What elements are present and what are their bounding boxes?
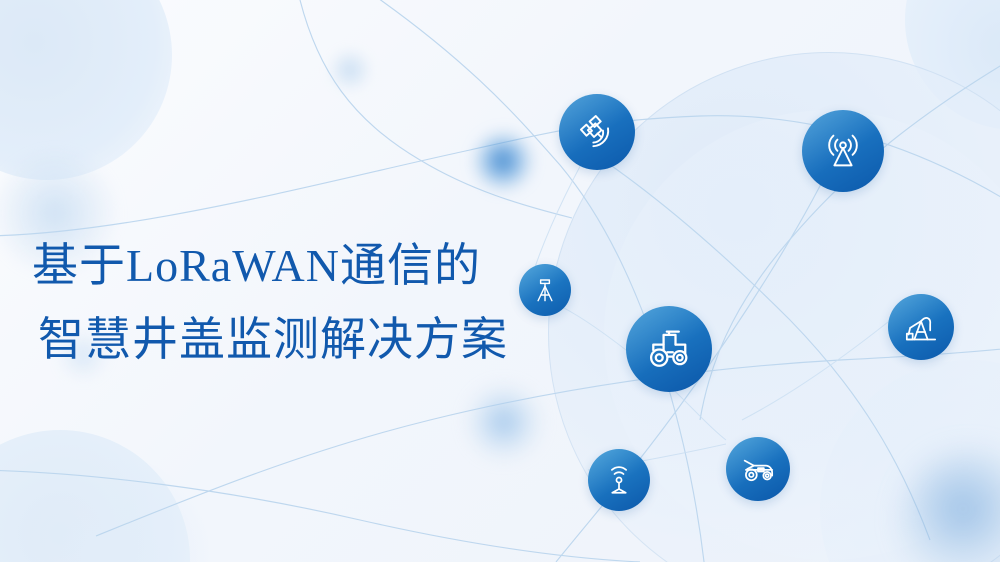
- node-radio-tower[interactable]: [802, 110, 884, 192]
- node-wireless-sensor[interactable]: [588, 449, 650, 511]
- background-blob-bottom-left: [0, 430, 190, 562]
- node-harvester[interactable]: [726, 437, 790, 501]
- glow-dot-top: [328, 48, 372, 92]
- node-satellite[interactable]: [559, 94, 635, 170]
- glow-dot-center: [472, 130, 534, 192]
- glow-dot-lower: [466, 384, 542, 460]
- harvester-icon: [738, 449, 778, 489]
- node-tractor[interactable]: [626, 306, 712, 392]
- background-blob-top-right: [905, 0, 1000, 130]
- satellite-icon: [575, 110, 619, 154]
- background-blob-top-left: [0, 0, 172, 180]
- background-blob-bottom-right: [820, 360, 1000, 562]
- wireless-sensor-icon: [601, 462, 637, 498]
- oil-pumpjack-icon: [901, 307, 941, 347]
- title-block: 基于LoRaWAN通信的 智慧井盖监测解决方案: [32, 229, 592, 377]
- title-line-2: 智慧井盖监测解决方案: [32, 303, 592, 377]
- slide-canvas: 基于LoRaWAN通信的 智慧井盖监测解决方案: [0, 0, 1000, 562]
- tractor-icon: [643, 323, 695, 375]
- node-oil-pumpjack[interactable]: [888, 294, 954, 360]
- radio-tower-icon: [820, 128, 866, 174]
- background-blob-bottom-left-2: [10, 455, 210, 562]
- title-line-1: 基于LoRaWAN通信的: [32, 229, 592, 303]
- glow-dot-bottom-right: [900, 450, 1000, 562]
